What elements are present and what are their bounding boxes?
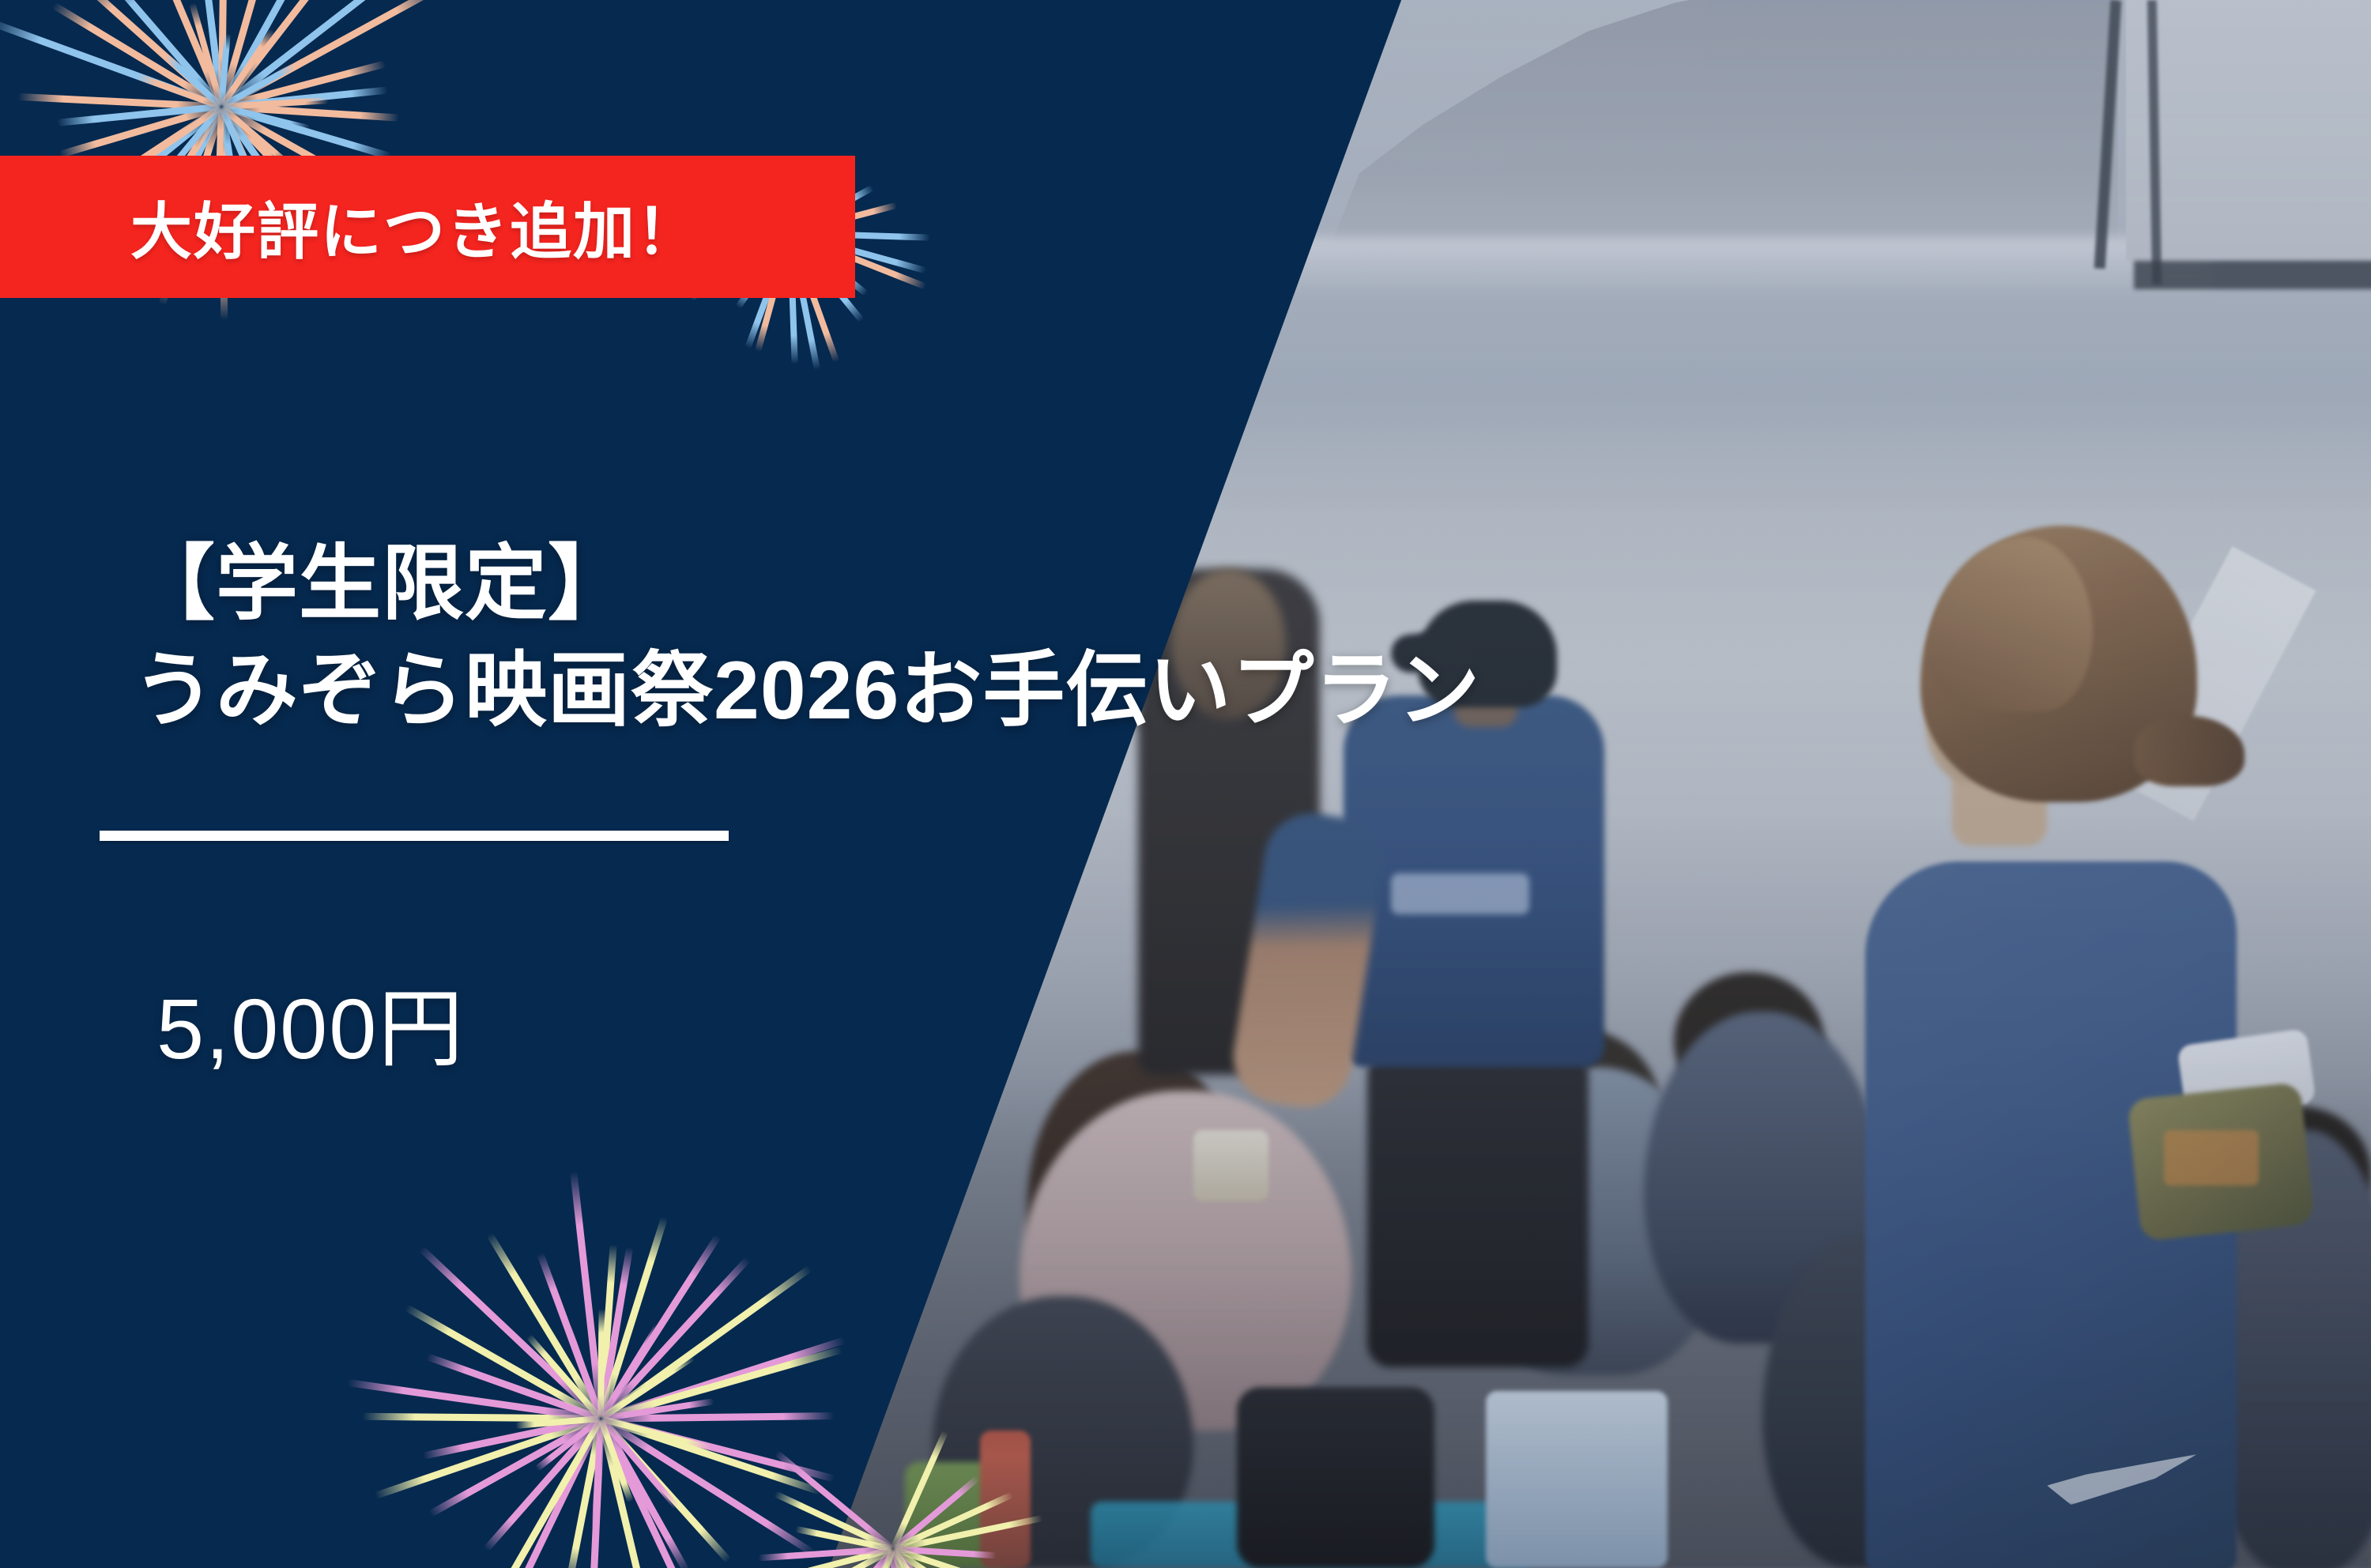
status-badge: 大好評につき追加！ xyxy=(0,156,855,298)
title-line-2: うみぞら映画祭2026お手伝いプラン xyxy=(133,638,1480,744)
poster-canvas: 大好評につき追加！ 【学生限定】 うみぞら映画祭2026お手伝いプラン 5,00… xyxy=(0,0,2371,1568)
badge-label: 大好評につき追加！ xyxy=(130,183,699,271)
title-line-1: 【学生限定】 xyxy=(133,538,631,630)
price-label: 5,000円 xyxy=(156,960,465,1084)
divider xyxy=(100,831,729,841)
page-title: 【学生限定】 うみぞら映画祭2026お手伝いプラン xyxy=(133,531,1480,744)
